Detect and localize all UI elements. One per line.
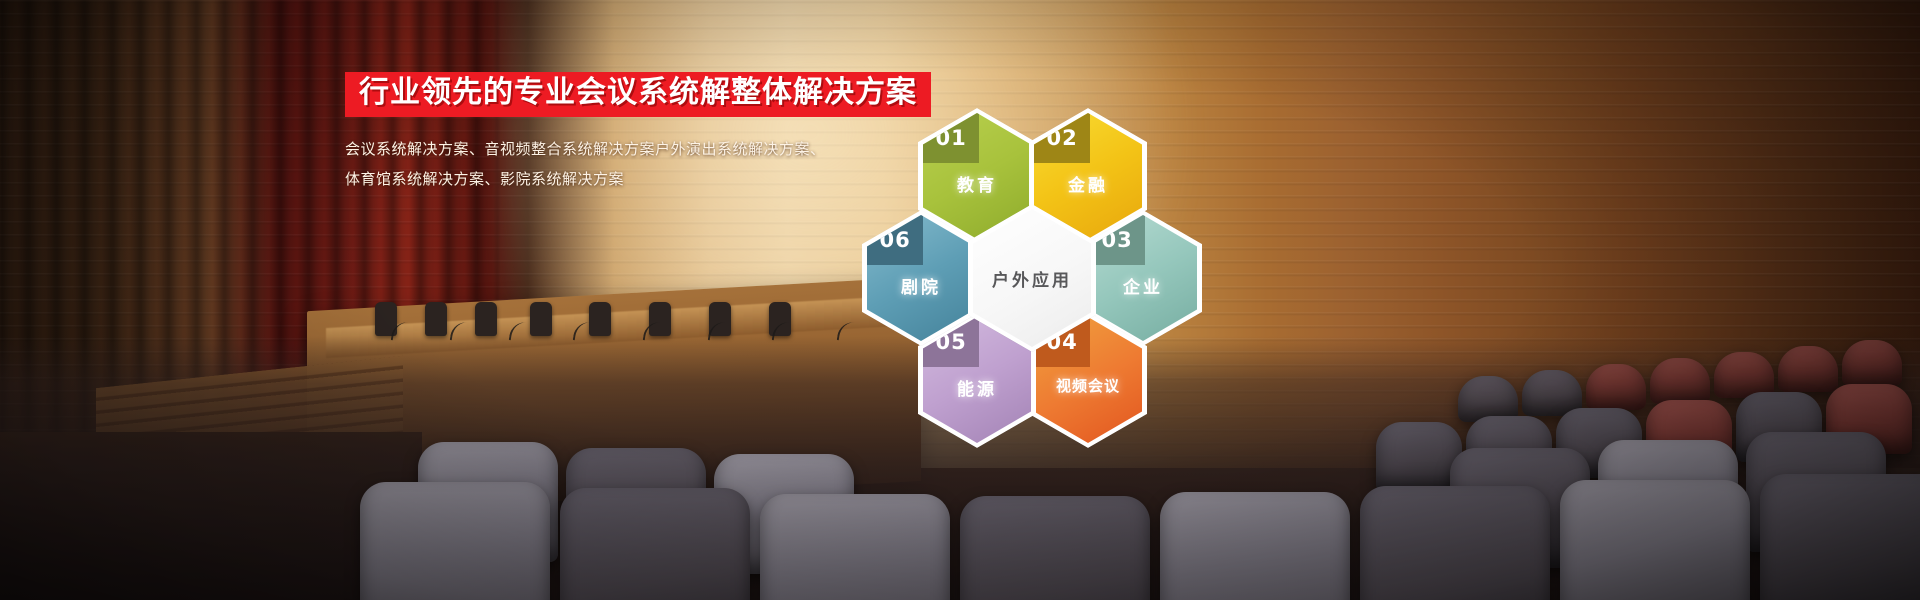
- hex-label-06: 剧院: [862, 273, 980, 298]
- hex-label-03: 企业: [1084, 273, 1202, 298]
- hex-label-05: 能源: [918, 375, 1036, 400]
- banner-root: 行业领先的专业会议系统解整体解决方案 会议系统解决方案、音视频整合系统解决方案户…: [0, 0, 1920, 600]
- hex-label-01: 教育: [918, 171, 1036, 196]
- hex-label-02: 金融: [1029, 171, 1147, 196]
- hexagon-cluster: 01 教育 02 金融 03 企业 04 视频会议: [840, 100, 1260, 490]
- hex-label-04: 视频会议: [1029, 375, 1147, 396]
- page-title: 行业领先的专业会议系统解整体解决方案: [359, 75, 917, 110]
